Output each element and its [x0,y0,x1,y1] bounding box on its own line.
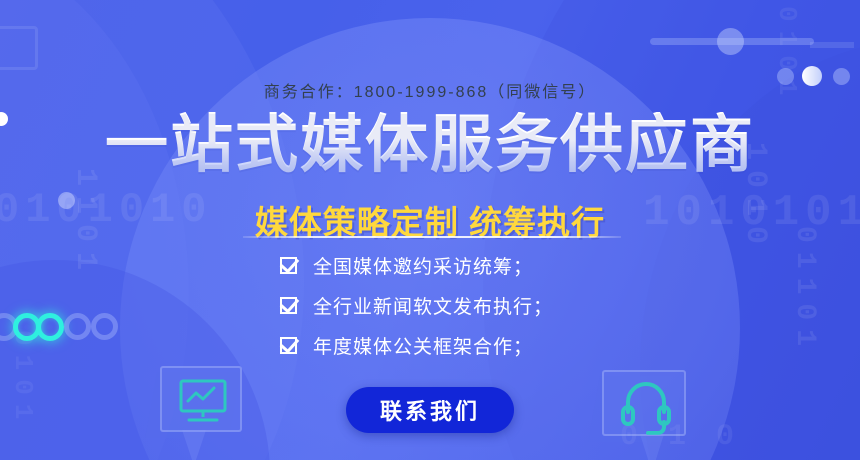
page-title: 一站式媒体服务供应商 [0,112,860,178]
list-item: 年度媒体公关框架合作； [280,332,580,359]
feature-label: 年度媒体公关框架合作； [313,332,533,359]
list-item: 全行业新闻软文发布执行； [280,292,580,319]
list-item: 全国媒体邀约采访统筹； [280,252,580,279]
divider [243,236,621,238]
checkbox-checked-icon [280,257,297,274]
banner-content: 商务合作：1800-1999-868（同微信号） 一站式媒体服务供应商 媒体策略… [0,0,860,460]
feature-label: 全国媒体邀约采访统筹； [313,252,533,279]
checkbox-checked-icon [280,337,297,354]
feature-label: 全行业新闻软文发布执行； [313,292,553,319]
promo-banner: 0101010 1101 0101 1010101 1010 01101 010… [0,0,860,460]
contact-us-button[interactable]: 联系我们 [346,387,514,433]
contact-line: 商务合作：1800-1999-868（同微信号） [0,78,860,102]
checkbox-checked-icon [280,297,297,314]
feature-list: 全国媒体邀约采访统筹； 全行业新闻软文发布执行； 年度媒体公关框架合作； [0,252,860,359]
